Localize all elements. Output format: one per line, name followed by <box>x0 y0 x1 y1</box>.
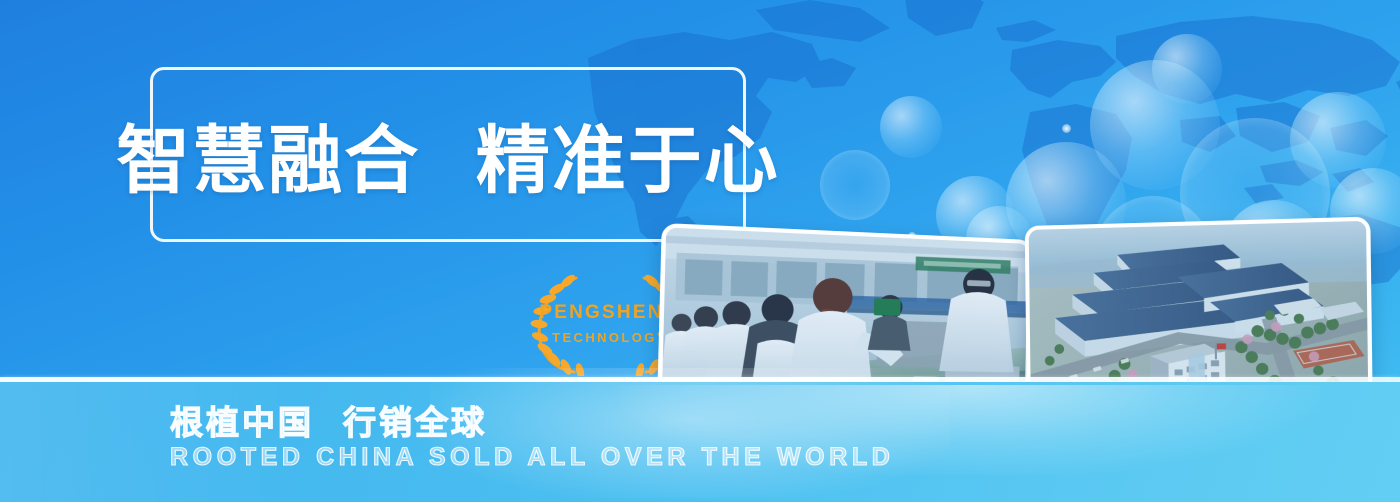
promo-banner: 智慧融合 精准于心 <box>0 0 1400 502</box>
slogan-english: ROOTED CHINA SOLD ALL OVER THE WORLD <box>170 443 894 472</box>
bokeh-circle <box>1152 34 1222 104</box>
slogan-chinese: 根植中国 行销全球 <box>170 396 487 444</box>
bokeh-circle <box>1090 60 1220 190</box>
bokeh-circle <box>820 150 890 220</box>
band-glow <box>430 368 950 498</box>
bokeh-circle <box>1290 92 1386 188</box>
bokeh-circle <box>880 96 942 158</box>
headline-frame: 智慧融合 精准于心 <box>150 67 746 242</box>
headline-title: 智慧融合 精准于心 <box>153 70 743 239</box>
bokeh-dot <box>1062 124 1071 133</box>
